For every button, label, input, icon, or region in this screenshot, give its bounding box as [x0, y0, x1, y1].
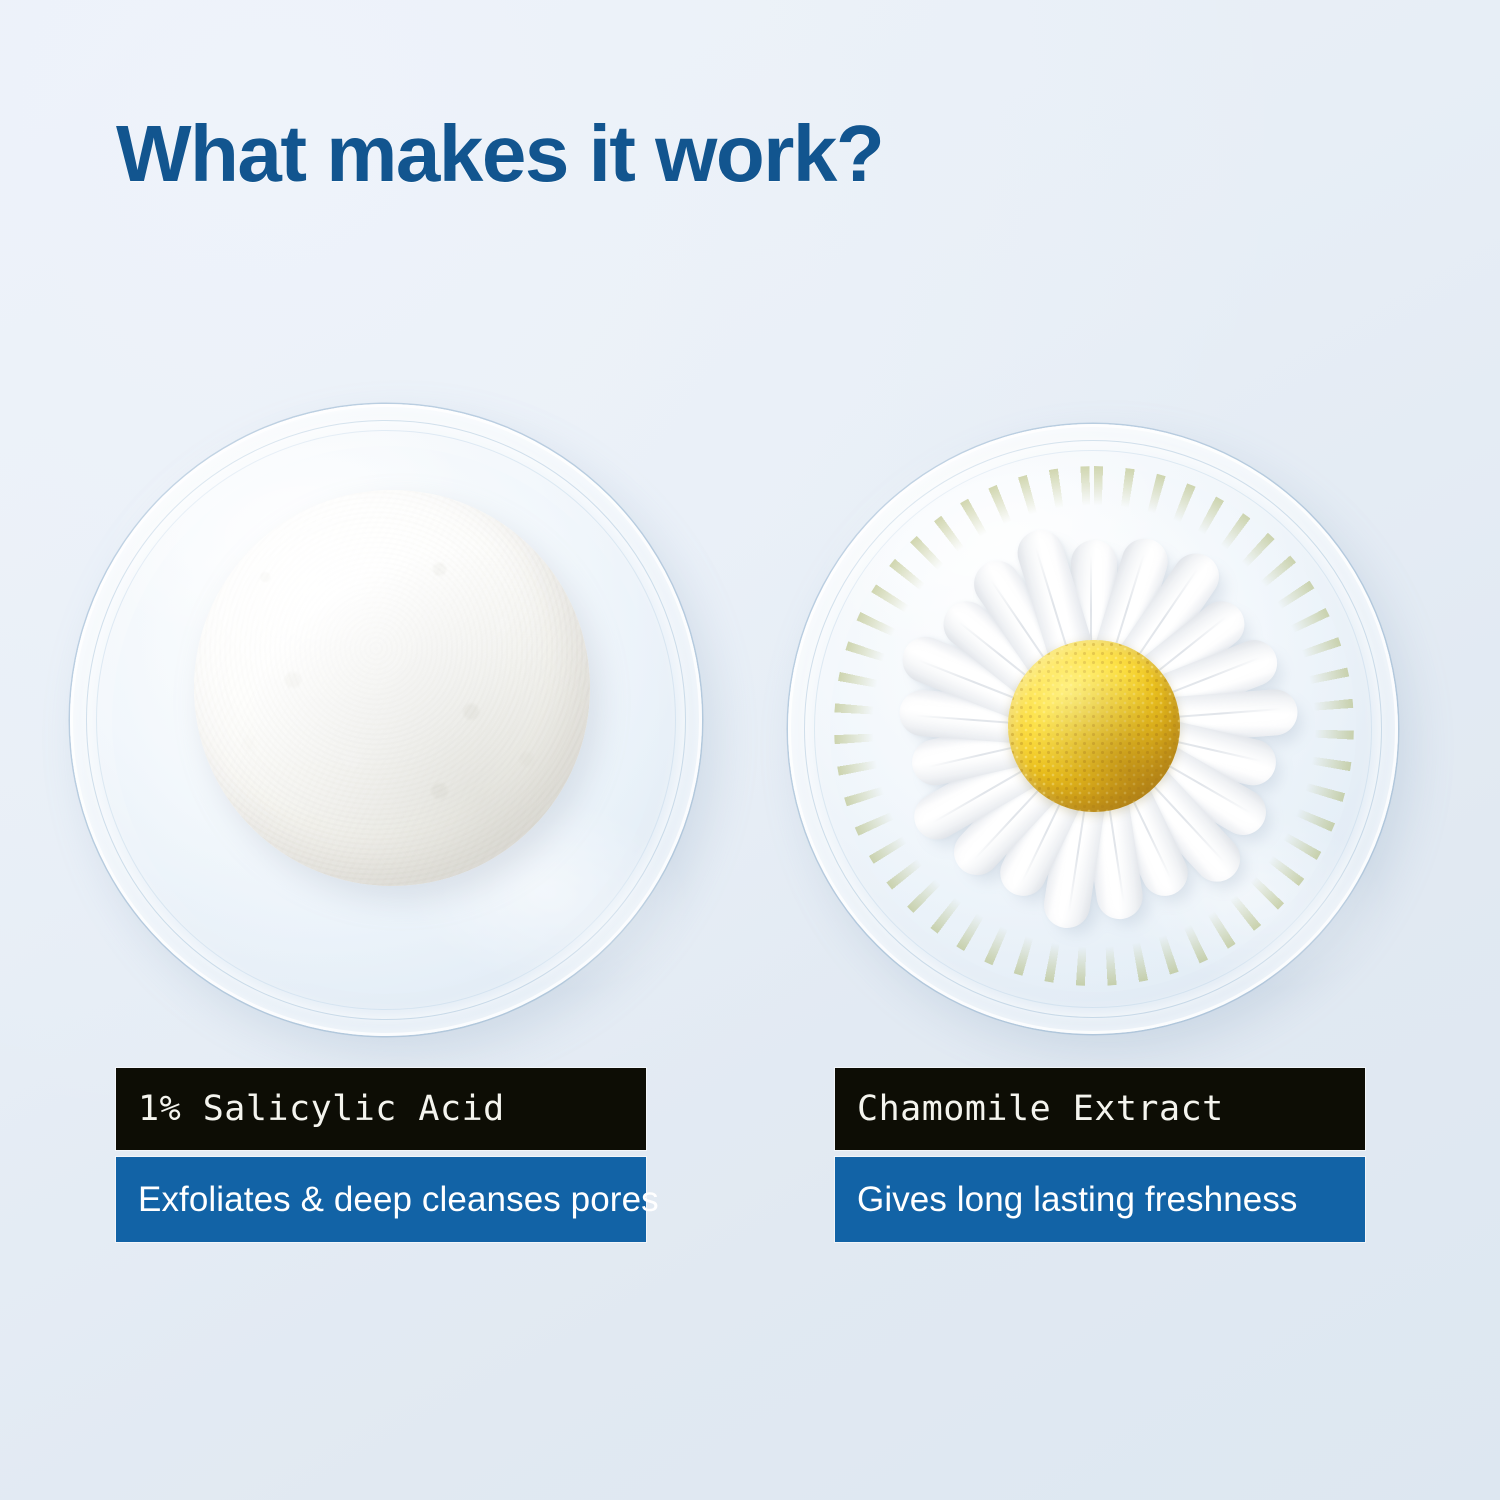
ingredient-name-box: 1% Salicylic Acid: [116, 1068, 646, 1150]
petri-dish-salicylic-acid: [70, 404, 702, 1036]
ingredient-name-text: Chamomile Extract: [857, 1089, 1224, 1129]
infographic-canvas: What makes it work?: [0, 0, 1500, 1500]
petri-dish-chamomile-extract: [788, 424, 1398, 1034]
salicylic-acid-powder: [194, 490, 590, 886]
powder-shading: [194, 490, 590, 886]
page-title: What makes it work?: [116, 112, 883, 196]
ingredient-label-group-chamomile-extract: Chamomile Extract Gives long lasting fre…: [835, 1068, 1365, 1242]
ingredient-benefit-text: Exfoliates & deep cleanses pores: [138, 1180, 659, 1220]
ingredient-benefit-text: Gives long lasting freshness: [857, 1180, 1298, 1220]
ingredient-benefit-box: Gives long lasting freshness: [835, 1157, 1365, 1242]
daisy-center-fringe: [834, 466, 1354, 986]
ingredient-label-group-salicylic-acid: 1% Salicylic Acid Exfoliates & deep clea…: [116, 1068, 646, 1242]
ingredient-name-box: Chamomile Extract: [835, 1068, 1365, 1150]
ingredient-benefit-box: Exfoliates & deep cleanses pores: [116, 1157, 646, 1242]
ingredient-name-text: 1% Salicylic Acid: [138, 1089, 505, 1129]
chamomile-daisy-flower: [840, 472, 1348, 980]
